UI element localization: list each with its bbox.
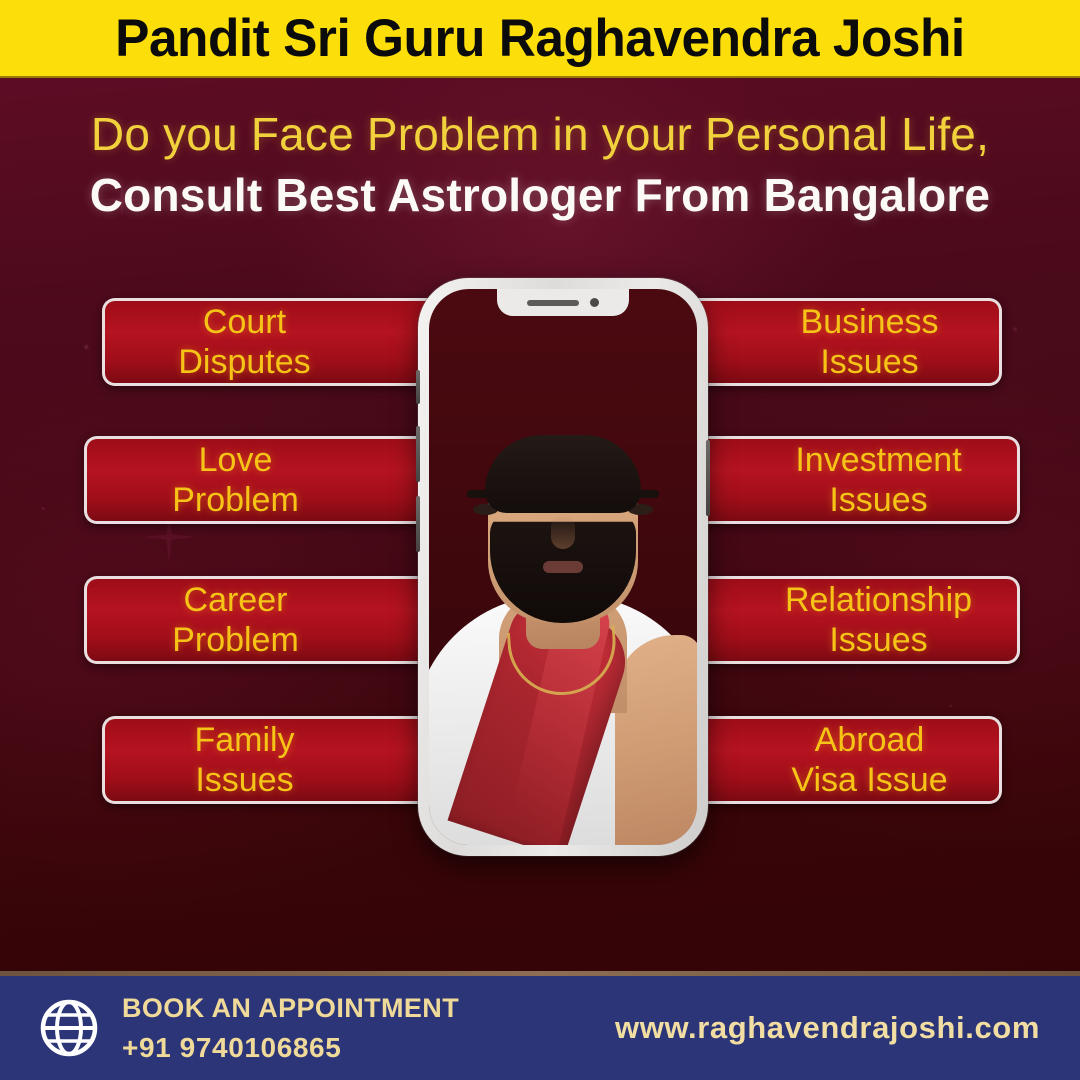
earpiece-speaker-icon <box>527 300 579 306</box>
poster-canvas: Pandit Sri Guru Raghavendra Joshi Do you… <box>0 0 1080 1080</box>
headline-line-2: Consult Best Astrologer From Bangalore <box>0 167 1080 225</box>
service-chip-abroad-visa-issue[interactable]: Abroad Visa Issue <box>672 716 1002 804</box>
website-url[interactable]: www.raghavendrajoshi.com <box>615 1010 1040 1046</box>
headline-line-1: Do you Face Problem in your Personal Lif… <box>0 108 1080 161</box>
service-chip-family-issues[interactable]: Family Issues <box>102 716 452 804</box>
service-chip-relationship-issues[interactable]: Relationship Issues <box>672 576 1020 664</box>
service-chip-label: Business Issues <box>795 302 945 382</box>
service-chip-label: Court Disputes <box>172 302 316 382</box>
phone-number[interactable]: +91 9740106865 <box>122 1033 459 1064</box>
portrait-hair <box>485 435 641 513</box>
phone-volume-up-button <box>416 426 420 482</box>
service-chip-court-disputes[interactable]: Court Disputes <box>102 298 452 386</box>
astrologer-portrait <box>429 289 697 845</box>
footer-bar: BOOK AN APPOINTMENT +91 9740106865 www.r… <box>0 976 1080 1080</box>
service-chip-love-problem[interactable]: Love Problem <box>84 436 452 524</box>
service-chip-business-issues[interactable]: Business Issues <box>672 298 1002 386</box>
service-chip-investment-issues[interactable]: Investment Issues <box>672 436 1020 524</box>
phone-volume-down-button <box>416 496 420 552</box>
service-chip-label: Investment Issues <box>789 440 967 520</box>
portrait-mouth <box>543 561 583 573</box>
footer-divider <box>0 971 1080 976</box>
portrait-nose <box>551 515 575 549</box>
portrait-arm <box>615 635 697 845</box>
globe-icon <box>38 997 100 1059</box>
book-appointment-label: BOOK AN APPOINTMENT <box>122 993 459 1024</box>
phone-notch <box>497 289 629 316</box>
header-banner: Pandit Sri Guru Raghavendra Joshi <box>0 0 1080 78</box>
service-chip-label: Career Problem <box>166 580 305 660</box>
phone-mute-switch <box>416 370 420 404</box>
service-chip-label: Abroad Visa Issue <box>785 720 953 800</box>
service-chip-label: Family Issues <box>188 720 300 800</box>
phone-screen <box>429 289 697 845</box>
page-title: Pandit Sri Guru Raghavendra Joshi <box>115 12 965 65</box>
service-chip-career-problem[interactable]: Career Problem <box>84 576 452 664</box>
phone-power-button <box>706 440 710 516</box>
front-camera-icon <box>590 298 599 307</box>
appointment-block: BOOK AN APPOINTMENT +91 9740106865 <box>122 993 459 1064</box>
service-chip-label: Relationship Issues <box>779 580 978 660</box>
service-chip-label: Love Problem <box>166 440 305 520</box>
headline-block: Do you Face Problem in your Personal Lif… <box>0 108 1080 225</box>
phone-mockup <box>418 278 708 856</box>
